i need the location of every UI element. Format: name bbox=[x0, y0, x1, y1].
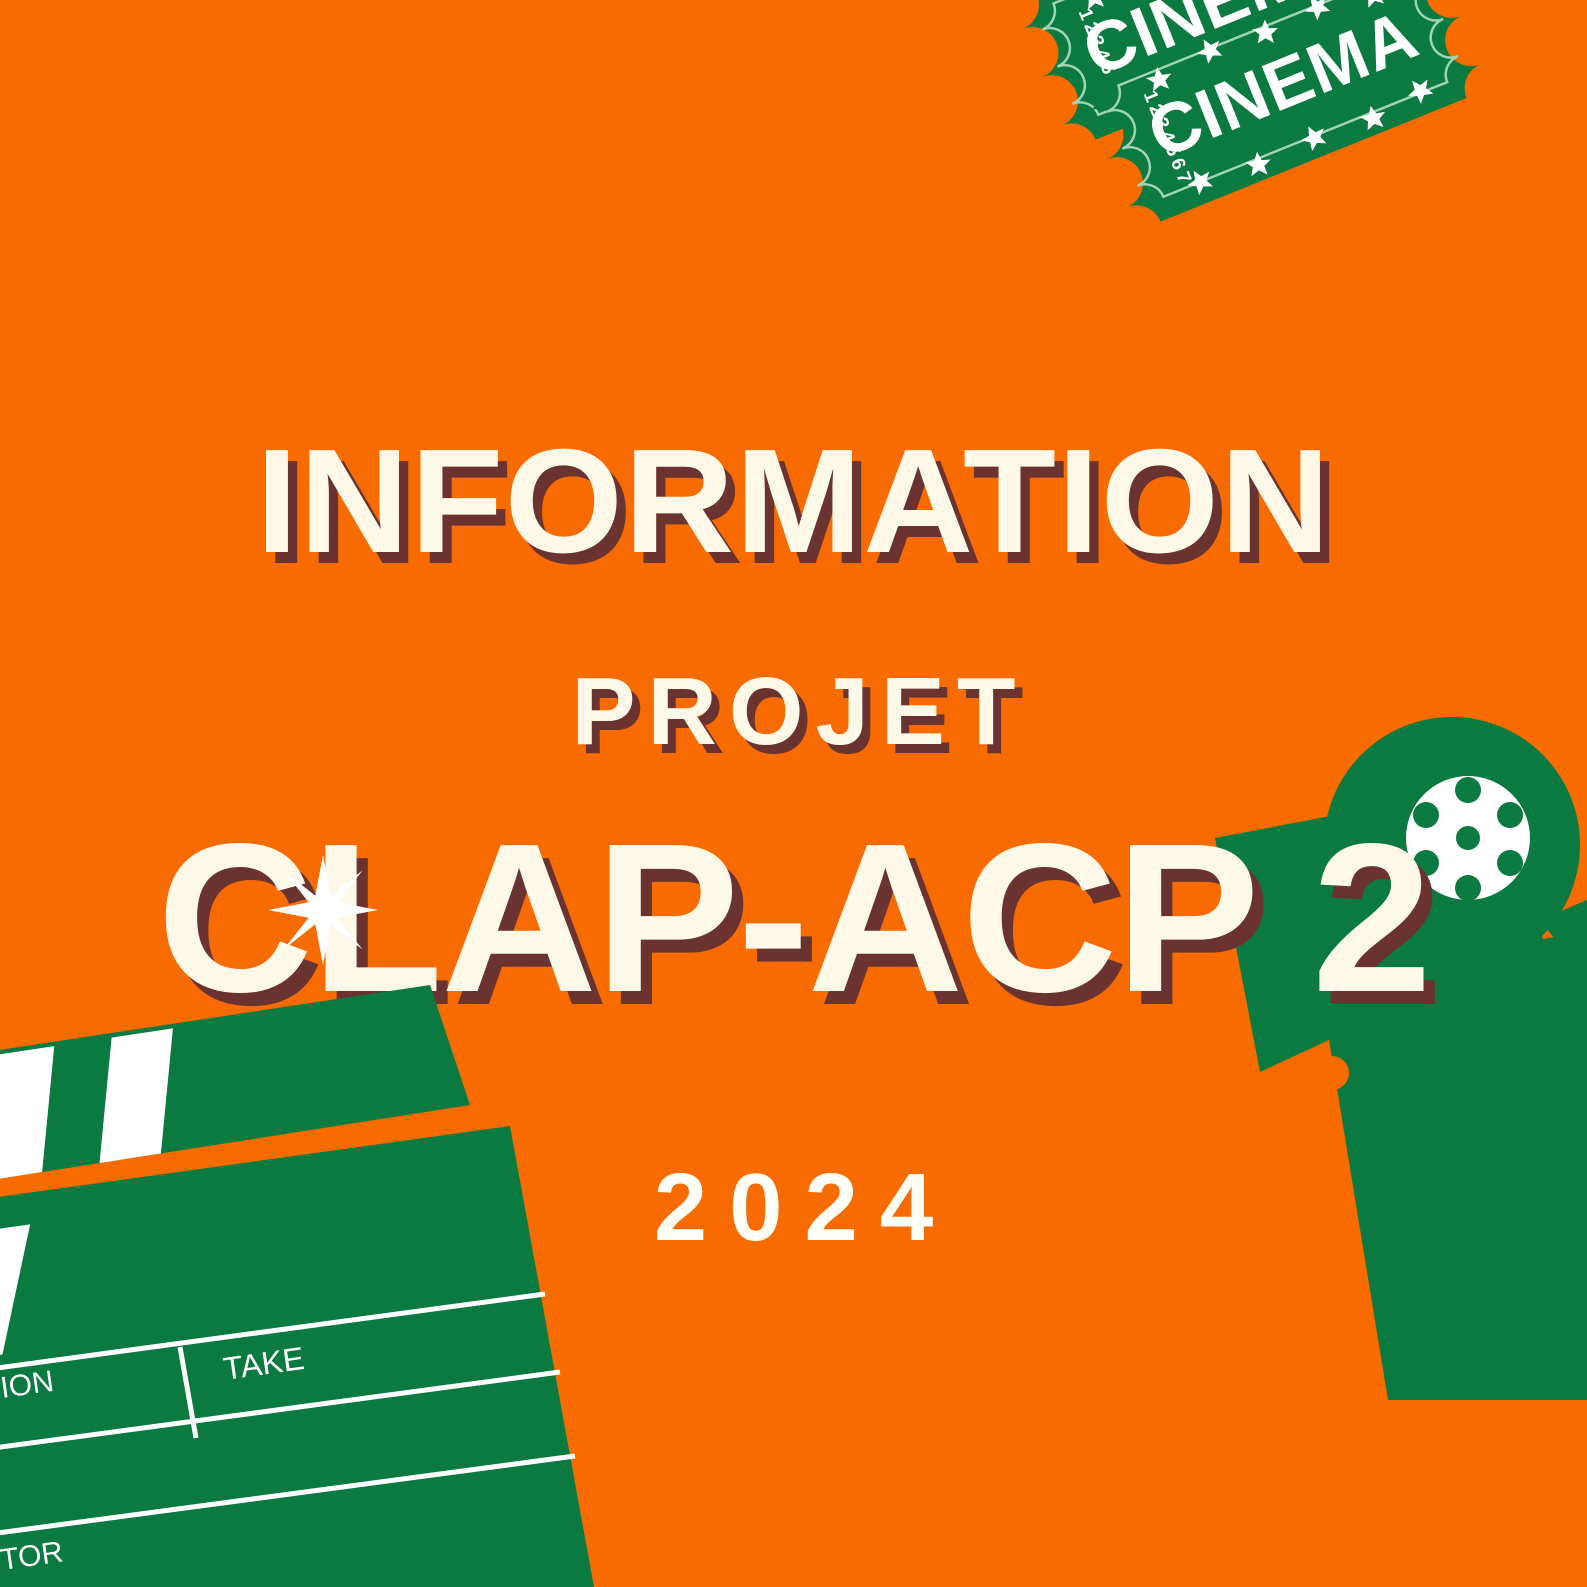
poster-canvas: CINEMA 1234567 CINEMA bbox=[0, 0, 1587, 1587]
svg-text:CINEMA: CINEMA bbox=[1137, 0, 1428, 173]
clapper-director-label: TOR bbox=[0, 1536, 65, 1577]
clapperboard-decoration: ION TAKE TOR bbox=[0, 0, 1587, 1587]
subtitle-projet: PROJET bbox=[0, 664, 1587, 760]
svg-text:1234567: 1234567 bbox=[1074, 6, 1132, 108]
clapper-take-label: TAKE bbox=[221, 1340, 306, 1387]
main-title-clap-acp: CLAP-ACP 2 bbox=[0, 812, 1587, 1024]
sparkle-icon bbox=[268, 855, 378, 965]
year-label: 2024 bbox=[0, 1160, 1587, 1256]
projector-decoration bbox=[0, 0, 1587, 1587]
clapper-production-label: ION bbox=[0, 1365, 56, 1405]
cinema-tickets-decoration: CINEMA 1234567 CINEMA bbox=[0, 0, 1587, 1587]
page-title-information: INFORMATION bbox=[0, 428, 1587, 576]
svg-text:CINEMA: CINEMA bbox=[1072, 0, 1363, 91]
svg-text:1234567: 1234567 bbox=[1139, 88, 1197, 190]
